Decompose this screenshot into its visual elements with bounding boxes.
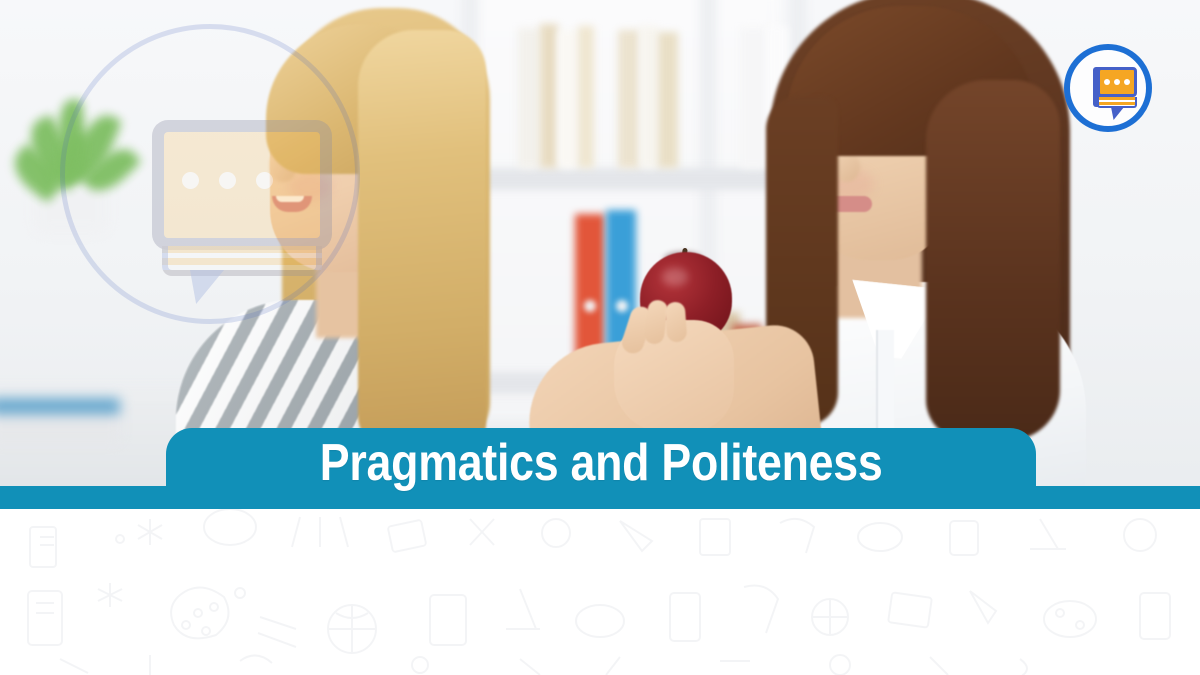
bubble-tail-icon (1111, 107, 1124, 120)
shelf-book (578, 26, 594, 168)
poster-canvas: Pragmatics and Politeness (0, 0, 1200, 675)
book-pages (1097, 97, 1137, 108)
shelf-book (640, 26, 658, 168)
shelf-book (540, 24, 558, 168)
speech-dots-icon (1104, 79, 1130, 85)
shelf-book (518, 28, 540, 168)
doodle-pattern (0, 509, 1200, 675)
page-title: Pragmatics and Politeness (320, 437, 883, 489)
title-banner: Pragmatics and Politeness (166, 428, 1036, 498)
binder-ring-hole (616, 300, 628, 312)
desk-books (0, 398, 120, 442)
binder-ring-hole (584, 300, 596, 312)
brand-badge[interactable] (1064, 44, 1152, 132)
polo-placket (876, 330, 894, 440)
shelf-book (618, 30, 640, 168)
hair-front (358, 30, 486, 450)
finger (665, 301, 688, 342)
hair-right (926, 80, 1060, 440)
shelf-book (558, 30, 578, 168)
footer: Decode Social Interactions: Key to Bette… (0, 509, 1200, 675)
book-speech-bubble-icon (1091, 67, 1137, 119)
shelf-book (658, 32, 678, 168)
